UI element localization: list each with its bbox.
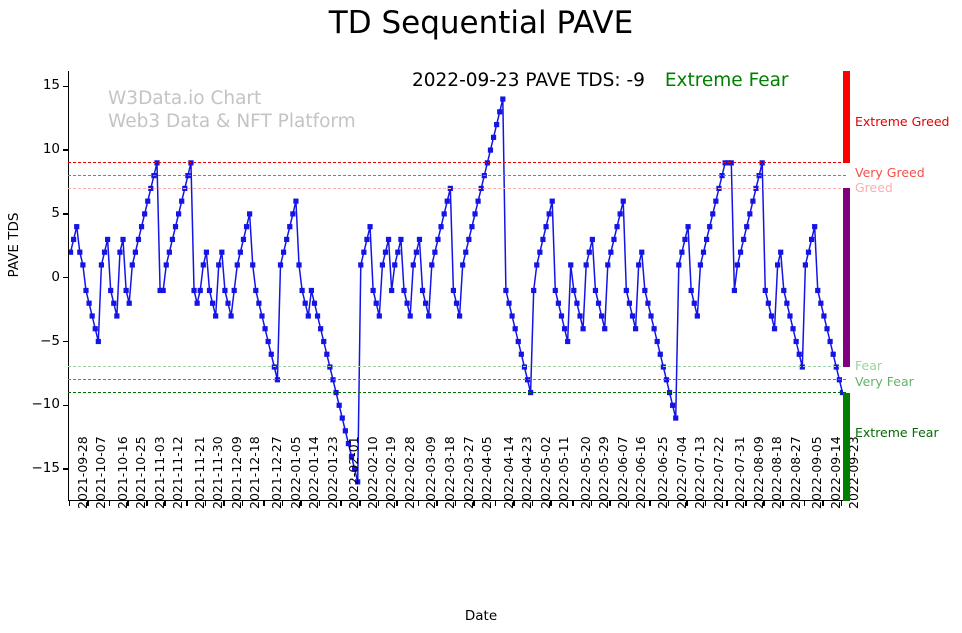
x-tick-mark: [649, 501, 651, 506]
x-tick-label: 2022-05-20: [578, 436, 593, 509]
y-tick-label: 5: [16, 205, 60, 221]
x-tick-mark: [513, 501, 515, 506]
x-tick-label: 2022-04-14: [501, 436, 516, 509]
x-tick-label: 2021-09-28: [75, 436, 90, 509]
x-tick-label: 2022-03-09: [423, 436, 438, 509]
x-tick-label: 2022-07-13: [692, 436, 707, 509]
x-axis-label: Date: [0, 608, 962, 624]
x-tick-mark: [686, 501, 688, 506]
regime-segment-extreme-fear: [843, 393, 850, 501]
x-tick-mark: [396, 501, 398, 506]
x-tick-label: 2021-12-27: [269, 436, 284, 509]
x-tick-label: 2022-02-19: [383, 436, 398, 509]
x-tick-label: 2021-11-30: [210, 436, 225, 509]
x-tick-mark: [69, 501, 71, 506]
zone-label-greed: Greed: [855, 180, 893, 195]
y-tick-label: 0: [16, 269, 60, 285]
x-tick-mark: [319, 501, 321, 506]
x-tick-mark: [205, 501, 207, 506]
x-tick-label: 2022-08-18: [769, 436, 784, 509]
x-tick-label: 2022-01-23: [325, 436, 340, 509]
x-tick-mark: [609, 501, 611, 506]
x-tick-mark: [745, 501, 747, 506]
x-tick-label: 2022-03-27: [461, 436, 476, 509]
threshold-line-extreme-fear: [68, 392, 846, 393]
page-title: TD Sequential PAVE: [0, 5, 962, 41]
x-tick-label: 2021-11-12: [170, 436, 185, 509]
zone-label-fear: Fear: [855, 358, 882, 373]
x-tick-label: 2021-12-18: [247, 436, 262, 509]
x-tick-mark: [263, 501, 265, 506]
x-tick-mark: [109, 501, 111, 506]
x-tick-label: 2022-04-23: [519, 436, 534, 509]
x-tick-label: 2021-11-03: [152, 436, 167, 509]
x-tick-label: 2022-03-18: [442, 436, 457, 509]
x-tick-mark: [705, 501, 707, 506]
y-tick-mark: [63, 405, 68, 407]
x-tick-mark: [782, 501, 784, 506]
x-tick-mark: [841, 501, 843, 506]
x-tick-label: 2021-10-07: [93, 436, 108, 509]
x-tick-label: 2021-10-16: [115, 436, 130, 509]
y-tick-label: 15: [16, 77, 60, 93]
x-tick-mark: [550, 501, 552, 506]
y-tick-label: −5: [16, 333, 60, 349]
x-tick-label: 2022-01-14: [306, 436, 321, 509]
x-tick-mark: [340, 501, 342, 506]
x-tick-mark: [282, 501, 284, 506]
regime-segment-extreme-greed: [843, 71, 850, 163]
x-tick-mark: [378, 501, 380, 506]
x-tick-mark: [572, 501, 574, 506]
x-tick-mark: [359, 501, 361, 506]
x-tick-mark: [146, 501, 148, 506]
x-tick-label: 2022-08-27: [788, 436, 803, 509]
x-tick-mark: [223, 501, 225, 506]
threshold-line-extreme-greed: [68, 162, 846, 163]
x-tick-mark: [436, 501, 438, 506]
x-tick-label: 2022-01-05: [288, 436, 303, 509]
threshold-line-very-fear: [68, 379, 846, 380]
y-tick-label: −10: [16, 396, 60, 412]
x-tick-label: 2022-07-31: [732, 436, 747, 509]
threshold-line-fear: [68, 366, 846, 367]
x-tick-label: 2021-12-09: [229, 436, 244, 509]
zone-label-very-greed: Very Greed: [855, 165, 925, 180]
x-tick-label: 2022-09-05: [809, 436, 824, 509]
x-tick-label: 2022-02-10: [365, 436, 380, 509]
x-tick-mark: [628, 501, 630, 506]
x-tick-label: 2022-09-14: [828, 436, 843, 509]
x-tick-mark: [473, 501, 475, 506]
x-tick-mark: [532, 501, 534, 506]
x-tick-mark: [300, 501, 302, 506]
x-tick-label: 2022-02-01: [346, 436, 361, 509]
x-tick-mark: [127, 501, 129, 506]
x-tick-mark: [242, 501, 244, 506]
chart-canvas: TD Sequential PAVE W3Data.io Chart Web3 …: [0, 0, 962, 633]
threshold-line-very-greed: [68, 175, 846, 176]
x-tick-mark: [164, 501, 166, 506]
regime-segment-neutral: [843, 188, 850, 367]
x-tick-mark: [591, 501, 593, 506]
x-tick-label: 2022-05-11: [556, 436, 571, 509]
y-tick-mark: [63, 468, 68, 470]
zone-label-very-fear: Very Fear: [855, 374, 914, 389]
x-tick-label: 2022-02-28: [402, 436, 417, 509]
x-tick-mark: [822, 501, 824, 506]
x-tick-label: 2022-06-25: [655, 436, 670, 509]
x-tick-label: 2021-10-25: [133, 436, 148, 509]
zone-label-extreme-fear: Extreme Fear: [855, 425, 939, 440]
x-tick-label: 2021-11-21: [192, 436, 207, 509]
x-tick-label: 2022-06-07: [615, 436, 630, 509]
y-tick-mark: [63, 277, 68, 279]
x-tick-label: 2022-07-22: [711, 436, 726, 509]
x-tick-mark: [668, 501, 670, 506]
x-tick-mark: [418, 501, 420, 506]
y-tick-mark: [63, 213, 68, 215]
x-tick-mark: [804, 501, 806, 506]
x-tick-mark: [726, 501, 728, 506]
y-tick-label: −15: [16, 460, 60, 476]
x-tick-label: 2022-05-29: [596, 436, 611, 509]
x-tick-label: 2022-04-05: [479, 436, 494, 509]
x-tick-label: 2022-07-04: [674, 436, 689, 509]
x-tick-label: 2022-08-09: [751, 436, 766, 509]
y-tick-mark: [63, 149, 68, 151]
x-tick-mark: [495, 501, 497, 506]
x-tick-label: 2022-05-02: [538, 436, 553, 509]
x-tick-mark: [186, 501, 188, 506]
threshold-line-greed: [68, 188, 846, 189]
x-tick-mark: [455, 501, 457, 506]
y-tick-mark: [63, 86, 68, 88]
x-tick-label: 2022-06-16: [633, 436, 648, 509]
regime-color-bar: [843, 71, 850, 501]
y-tick-label: 10: [16, 141, 60, 157]
zone-label-extreme-greed: Extreme Greed: [855, 114, 949, 129]
y-tick-mark: [63, 341, 68, 343]
x-tick-mark: [87, 501, 89, 506]
x-tick-mark: [763, 501, 765, 506]
